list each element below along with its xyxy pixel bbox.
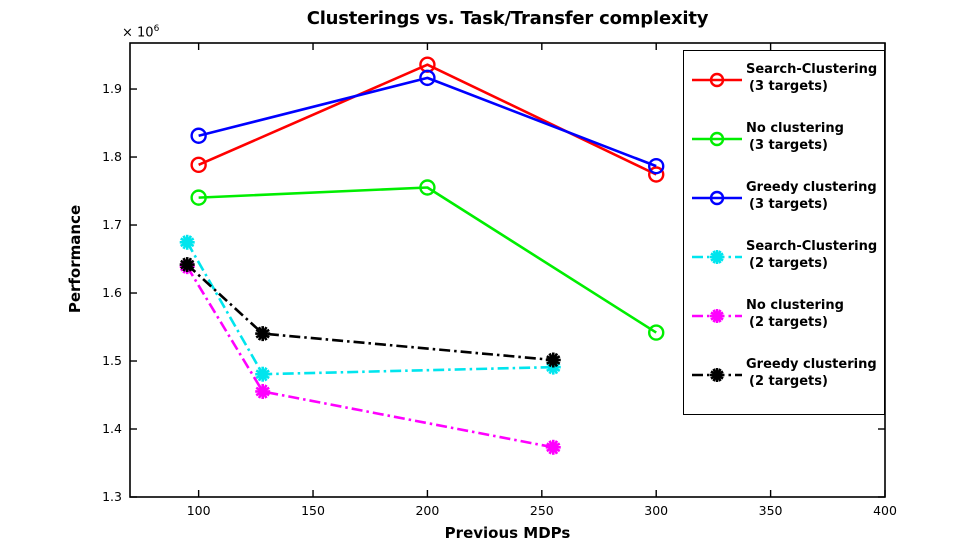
legend-swatch-circle-icon — [690, 128, 744, 150]
legend-label-line2: (3 targets) — [746, 137, 886, 154]
x-tick-label: 350 — [746, 503, 796, 518]
legend-label-line2: (3 targets) — [746, 78, 886, 95]
series-line — [187, 265, 553, 360]
series-2 — [192, 71, 664, 173]
y-tick-label: 1.4 — [76, 421, 122, 436]
series-line — [199, 78, 657, 166]
series-5 — [180, 257, 561, 367]
y-tick-label: 1.5 — [76, 353, 122, 368]
series-line — [199, 187, 657, 332]
legend-label-line1: Greedy clustering — [746, 357, 877, 372]
x-tick-label: 150 — [288, 503, 338, 518]
legend-label-line1: No clustering — [746, 298, 844, 313]
legend-label: No clustering(2 targets) — [746, 297, 886, 331]
y-tick-label: 1.7 — [76, 217, 122, 232]
legend-entry-2[interactable]: Greedy clustering(3 targets) — [684, 181, 886, 233]
legend-label-line1: Greedy clustering — [746, 180, 877, 195]
legend-label-line2: (2 targets) — [746, 255, 886, 272]
legend-label-line1: Search-Clustering — [746, 239, 877, 254]
legend-swatch-star-icon — [690, 305, 744, 327]
data-series-group — [180, 58, 664, 455]
legend[interactable]: Search-Clustering(3 targets)No clusterin… — [683, 50, 885, 415]
legend-entry-5[interactable]: Greedy clustering(2 targets) — [684, 358, 886, 410]
figure-canvas: Clusterings vs. Task/Transfer complexity… — [0, 0, 979, 560]
y-tick-label: 1.8 — [76, 149, 122, 164]
series-4 — [180, 259, 561, 455]
legend-swatch-circle-icon — [690, 187, 744, 209]
legend-entry-3[interactable]: Search-Clustering(2 targets) — [684, 240, 886, 292]
x-tick-label: 400 — [860, 503, 910, 518]
legend-swatch-star-icon — [690, 364, 744, 386]
legend-label-line2: (3 targets) — [746, 196, 886, 213]
x-tick-label: 200 — [402, 503, 452, 518]
series-line — [187, 267, 553, 448]
legend-label: Greedy clustering(3 targets) — [746, 179, 886, 213]
legend-entry-1[interactable]: No clustering(3 targets) — [684, 122, 886, 174]
legend-label-line1: Search-Clustering — [746, 62, 877, 77]
legend-entry-4[interactable]: No clustering(2 targets) — [684, 299, 886, 351]
legend-swatch-star-icon — [690, 246, 744, 268]
legend-label-line2: (2 targets) — [746, 314, 886, 331]
x-tick-label: 250 — [517, 503, 567, 518]
x-tick-label: 300 — [631, 503, 681, 518]
legend-label-line1: No clustering — [746, 121, 844, 136]
x-tick-label: 100 — [174, 503, 224, 518]
legend-label: Greedy clustering(2 targets) — [746, 356, 886, 390]
legend-label: Search-Clustering(2 targets) — [746, 238, 886, 272]
y-tick-label: 1.3 — [76, 489, 122, 504]
legend-label: No clustering(3 targets) — [746, 120, 886, 154]
series-1 — [192, 180, 664, 339]
legend-label: Search-Clustering(3 targets) — [746, 61, 886, 95]
legend-label-line2: (2 targets) — [746, 373, 886, 390]
legend-entry-0[interactable]: Search-Clustering(3 targets) — [684, 63, 886, 115]
y-tick-label: 1.6 — [76, 285, 122, 300]
legend-swatch-circle-icon — [690, 69, 744, 91]
y-tick-label: 1.9 — [76, 81, 122, 96]
